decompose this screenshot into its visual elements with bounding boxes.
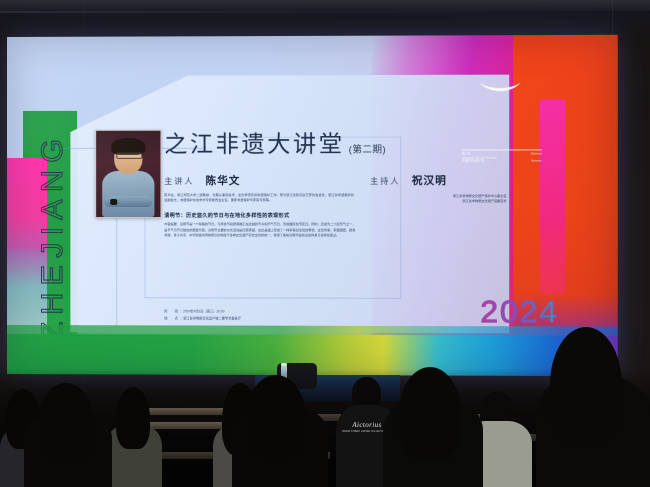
speaker-role-label: 主讲人 — [164, 175, 194, 186]
desk-row — [145, 408, 250, 415]
lecture-abstract: 内容提要：清明节是一个特殊的节日，与寒食节和踏青融汇在此前的节令和节气节日，形成… — [164, 222, 355, 238]
water-bottle-cap — [281, 363, 287, 366]
speaker-portrait-photo — [95, 129, 161, 217]
desk-row — [150, 422, 250, 429]
host-credential-2: 浙江省非物质文化遗产馆副馆长 — [370, 199, 506, 204]
poster-meta: 时 间：2024年4月3日（周三）10:00 地 点：浙江省非物质文化遗产馆二楼… — [164, 309, 241, 323]
meta-place-value: 浙江省非物质文化遗产馆二楼学术报告厅 — [183, 316, 241, 320]
host-row: 主持人 祝汉明 — [370, 172, 506, 187]
meta-place-label: 地 点 — [164, 316, 180, 320]
desk-row — [420, 434, 560, 441]
poster-magenta-strip — [540, 100, 566, 308]
speaker-column: 主讲人 陈华文 陈华文，浙江师范大学二级教授，长期从事民俗学、文化学研究和非遗保… — [164, 172, 354, 204]
poster-year: 2024 — [480, 293, 559, 330]
portrait-glasses — [116, 152, 142, 159]
speaker-name: 陈华文 — [206, 172, 241, 187]
swoosh-mark-icon — [473, 79, 528, 96]
poster-title: 之江非遗大讲堂 — [164, 124, 344, 158]
speaker-row: 主讲人 陈华文 — [164, 172, 354, 187]
portrait-body — [102, 171, 155, 217]
speaker-bio: 陈华文，浙江师范大学二级教授，长期从事民俗学、文化学研究和非遗保护工作。现为浙江… — [164, 193, 354, 204]
desk-row — [300, 414, 480, 421]
host-name: 祝汉明 — [412, 172, 447, 187]
host-column: 主持人 祝汉明 浙江省非物质文化遗产保护中心副主任 浙江省非物质文化遗产馆副馆长 — [370, 172, 506, 204]
poster-title-row: 之江非遗大讲堂 (第二期) — [164, 124, 506, 159]
meta-place: 地 点：浙江省非物质文化遗产馆二楼学术报告厅 — [164, 315, 241, 322]
portrait-watch — [110, 199, 117, 205]
poster-people: 主讲人 陈华文 陈华文，浙江师范大学二级教授，长期从事民俗学、文化学研究和非遗保… — [164, 172, 506, 204]
vertical-wordmark-text: ZHEJIANG — [36, 131, 70, 340]
projection-screen: 浙江省 Zhejiang Intangible Cultural Heritag… — [7, 35, 618, 376]
host-role-label: 主持人 — [370, 175, 400, 186]
logo-en-line1: Zhejiang — [531, 152, 542, 156]
desk-row — [100, 452, 330, 459]
photo-scene: 浙江省 Zhejiang Intangible Cultural Heritag… — [0, 0, 650, 487]
poster-title-suffix: (第二期) — [349, 141, 386, 158]
wall-seam — [0, 11, 650, 13]
room-shadow — [0, 369, 650, 487]
meta-time-label: 时 间 — [164, 310, 180, 314]
lecture-topic: 清明节：历史悠久的节日与在地化多样性的表现形式 — [164, 212, 506, 219]
meta-time-value: 2024年4月3日（周三）10:00 — [183, 310, 224, 314]
poster-content: 之江非遗大讲堂 (第二期) 主讲人 陈华文 陈华文，浙江师范大学二级教授，长期从… — [164, 124, 506, 239]
logo-en-line3: Museum — [531, 160, 542, 164]
